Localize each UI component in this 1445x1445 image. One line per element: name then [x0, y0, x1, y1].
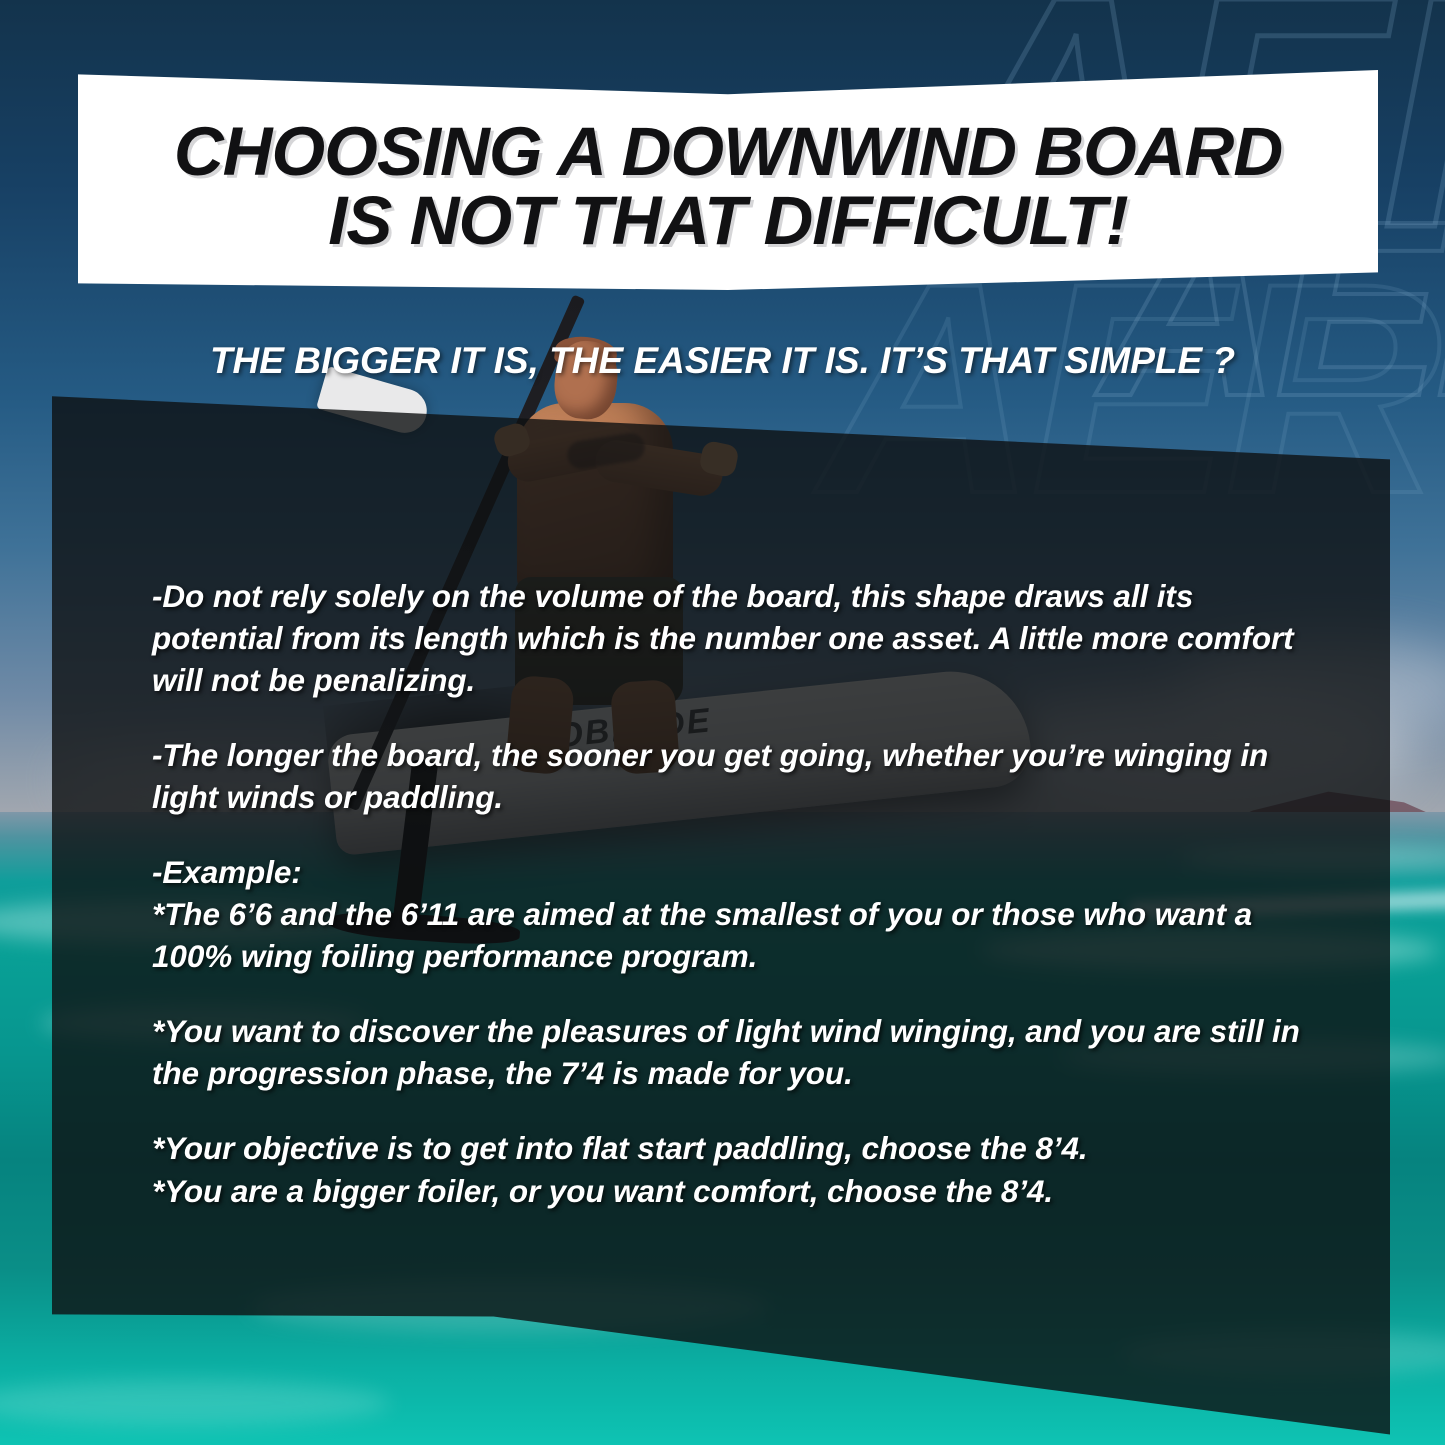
body-paragraph: *Your objective is to get into flat star… — [152, 1127, 1322, 1211]
title-line-1: CHOOSING A DOWNWIND BOARD — [174, 117, 1282, 186]
title-banner: CHOOSING A DOWNWIND BOARD IS NOT THAT DI… — [78, 70, 1378, 290]
poster-canvas: AER AER AER PROBLADE CHOOSING A DO — [0, 0, 1445, 1445]
page-title: CHOOSING A DOWNWIND BOARD IS NOT THAT DI… — [140, 117, 1316, 255]
body-paragraph: -The longer the board, the sooner you ge… — [152, 734, 1322, 818]
body-paragraph: -Example:*The 6’6 and the 6’11 are aimed… — [152, 851, 1322, 977]
subtitle: THE BIGGER IT IS, THE EASIER IT IS. IT’S… — [0, 340, 1445, 382]
title-line-2: IS NOT THAT DIFFICULT! — [174, 186, 1282, 255]
body-copy: -Do not rely solely on the volume of the… — [152, 575, 1322, 1212]
body-paragraph: -Do not rely solely on the volume of the… — [152, 575, 1322, 701]
body-paragraph: *You want to discover the pleasures of l… — [152, 1010, 1322, 1094]
